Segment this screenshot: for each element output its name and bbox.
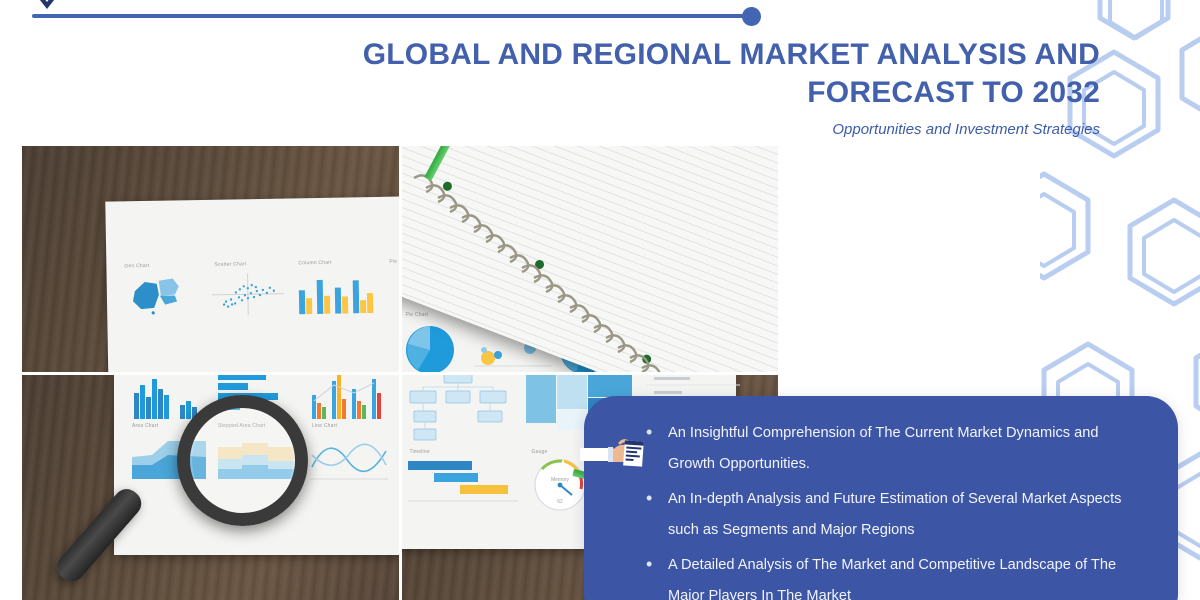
- page-title-block: GLOBAL AND REGIONAL MARKET ANALYSIS AND …: [300, 36, 1100, 138]
- chart-label-line: Line Chart: [312, 423, 337, 429]
- page-title-line-1: GLOBAL AND REGIONAL MARKET ANALYSIS AND: [363, 38, 1100, 71]
- chart-label-scatter: Scatter Chart: [214, 261, 246, 268]
- chart-label-area: Area Chart: [132, 423, 158, 429]
- collage-panel-desk-with-chart-sheet: Geo Chart Scatter Chart Column Chart Pie…: [22, 146, 399, 372]
- page-subtitle: Opportunities and Investment Strategies: [300, 121, 1100, 138]
- chart-label-pie: Pie Chart: [389, 258, 398, 264]
- notebook-spiral-binding: [402, 170, 779, 372]
- page-title-line-2: FORECAST TO 2032: [807, 76, 1100, 109]
- column-chart-thumb: [297, 271, 376, 314]
- scatter-chart-thumb: [212, 273, 285, 316]
- chevron-down-icon: [34, 0, 60, 12]
- chart-label-gauge: Gauge: [532, 449, 548, 455]
- chart-label-column: Column Chart: [298, 260, 331, 267]
- printed-chart-sheet: Geo Chart Scatter Chart Column Chart Pie…: [105, 196, 398, 371]
- list-item: A Detailed Analysis of The Market and Co…: [646, 550, 1148, 600]
- header-rule: [32, 14, 752, 18]
- header-rule-endpoint-dot: [742, 7, 761, 26]
- highlight-bullet-list: An Insightful Comprehension of The Curre…: [646, 418, 1148, 600]
- hand-holding-document-svg: [580, 434, 646, 474]
- list-item: An Insightful Comprehension of The Curre…: [646, 418, 1148, 480]
- collage-panel-magnifier-over-charts: Area Chart Stepped Area Chart Line Chart: [22, 375, 399, 600]
- hand-holding-document-icon: [580, 434, 646, 474]
- column-chart-thumb: [132, 375, 202, 419]
- page-title: GLOBAL AND REGIONAL MARKET ANALYSIS AND …: [300, 36, 1100, 112]
- timeline-chart-thumb: [408, 459, 518, 507]
- svg-text:Memory: Memory: [550, 477, 569, 483]
- combo-chart-thumb: [310, 375, 386, 419]
- collage-panel-spiral-notebook: Pie Chart Bubble Chart Donut Chart Treem…: [402, 146, 779, 372]
- chart-label-geo: Geo Chart: [124, 263, 149, 269]
- geo-chart-thumb: [127, 274, 188, 317]
- chevron-down-svg: [34, 0, 60, 12]
- list-item: An In-depth Analysis and Future Estimati…: [646, 484, 1148, 546]
- line-chart-thumb: [310, 435, 388, 483]
- org-chart-thumb: [408, 375, 512, 443]
- svg-text:62: 62: [557, 499, 563, 505]
- chart-label-timeline: Timeline: [410, 449, 430, 455]
- magnifier-lens: [177, 395, 308, 526]
- key-highlights-panel: An Insightful Comprehension of The Curre…: [584, 396, 1178, 600]
